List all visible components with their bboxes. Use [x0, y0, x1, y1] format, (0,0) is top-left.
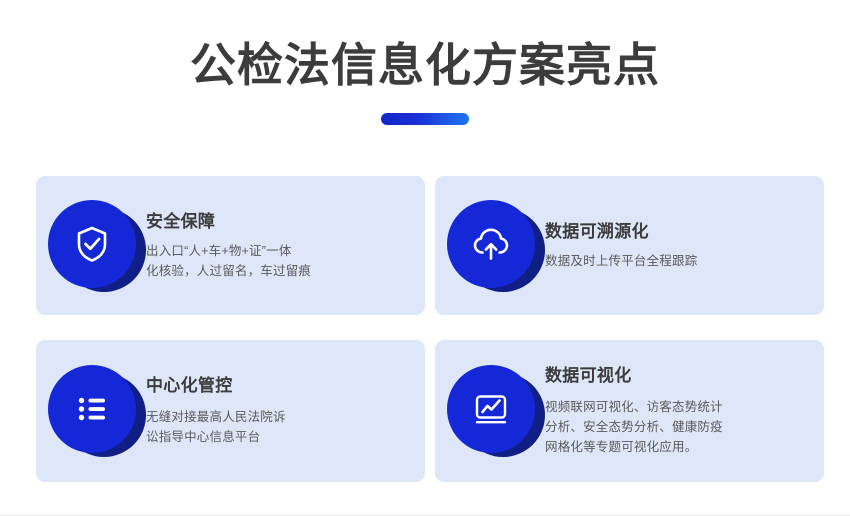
feature-card-data-traceability[interactable]: 数据可溯源化 数据及时上传平台全程跟踪	[435, 176, 824, 315]
icon-circle	[48, 200, 136, 288]
icon-badge	[48, 365, 140, 457]
card-title: 数据可视化	[545, 365, 808, 387]
card-text: 数据可溯源化 数据及时上传平台全程跟踪	[545, 221, 808, 271]
page-header: 公检法信息化方案亮点	[0, 0, 850, 125]
card-title: 数据可溯源化	[545, 221, 808, 243]
feature-card-grid: 安全保障 出入口“人+车+物+证”一体 化核验，人过留名，车过留痕 数据可溯源化…	[36, 176, 824, 482]
list-bullets-icon	[70, 387, 114, 431]
icon-circle	[447, 200, 535, 288]
card-title: 中心化管控	[146, 375, 409, 397]
shield-check-icon	[70, 222, 114, 266]
card-text: 中心化管控 无缝对接最高人民法院诉 讼指导中心信息平台	[146, 375, 409, 447]
page-title: 公检法信息化方案亮点	[0, 36, 850, 94]
chart-monitor-icon	[468, 386, 514, 432]
card-text: 安全保障 出入口“人+车+物+证”一体 化核验，人过留名，车过留痕	[146, 211, 409, 281]
card-title: 安全保障	[146, 211, 409, 233]
card-text: 数据可视化 视频联网可视化、访客态势统计 分析、安全态势分析、健康防疫 网格化等…	[545, 365, 808, 457]
icon-badge	[48, 200, 140, 292]
icon-circle	[48, 365, 136, 453]
card-description: 出入口“人+车+物+证”一体 化核验，人过留名，车过留痕	[146, 241, 409, 281]
card-description: 无缝对接最高人民法院诉 讼指导中心信息平台	[146, 407, 409, 447]
icon-badge	[447, 200, 539, 292]
page-root: 公检法信息化方案亮点 安全保障 出入口“人+车+物+证”一体 化核验，人过留名，…	[0, 0, 850, 516]
icon-circle	[447, 365, 535, 453]
icon-badge	[447, 365, 539, 457]
cloud-upload-icon	[468, 221, 514, 267]
title-underline-bar	[381, 113, 469, 125]
feature-card-security[interactable]: 安全保障 出入口“人+车+物+证”一体 化核验，人过留名，车过留痕	[36, 176, 425, 315]
feature-card-central-control[interactable]: 中心化管控 无缝对接最高人民法院诉 讼指导中心信息平台	[36, 340, 425, 482]
card-description: 视频联网可视化、访客态势统计 分析、安全态势分析、健康防疫 网格化等专题可视化应…	[545, 397, 808, 457]
feature-card-data-visualization[interactable]: 数据可视化 视频联网可视化、访客态势统计 分析、安全态势分析、健康防疫 网格化等…	[435, 340, 824, 482]
card-description: 数据及时上传平台全程跟踪	[545, 251, 808, 271]
